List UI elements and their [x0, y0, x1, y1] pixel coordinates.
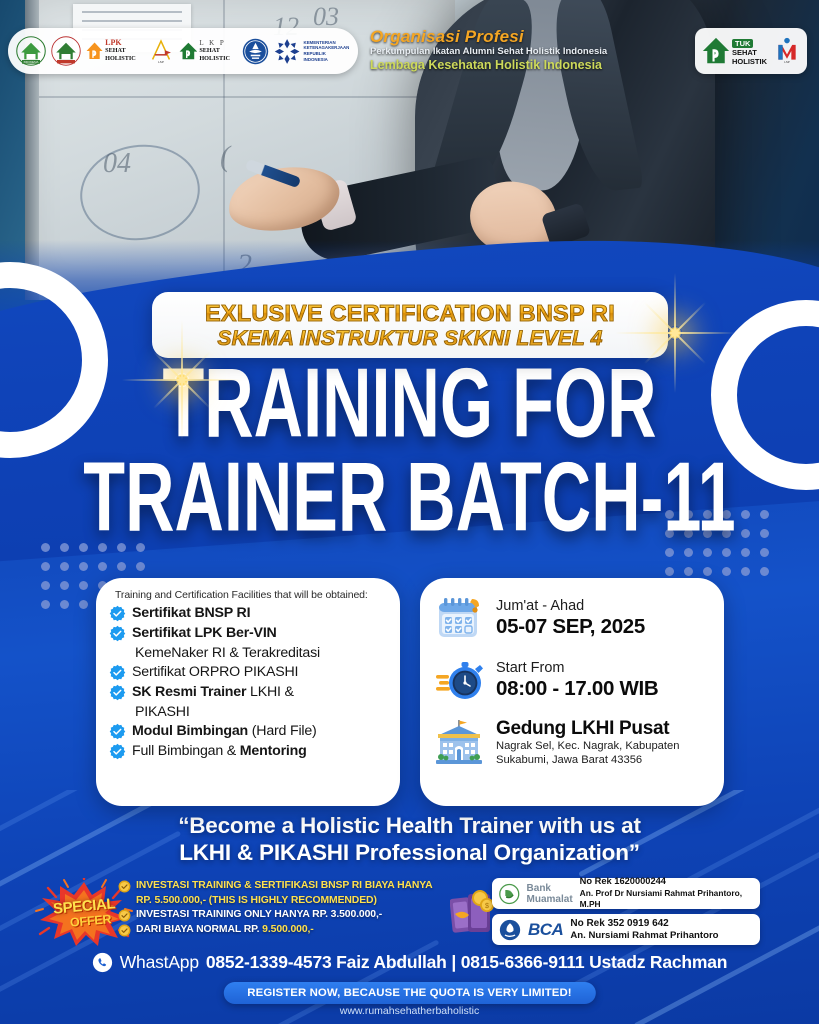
building-icon: [434, 716, 486, 768]
facility-text: Full Bimbingan & Mentoring: [132, 742, 307, 761]
logo-mapelkindo-icon: LSP: [774, 37, 800, 65]
logo-kemendikbud-icon: [242, 38, 269, 65]
facility-bold-tail: Mentoring: [240, 743, 307, 759]
check-coin-icon: [118, 909, 131, 922]
svg-text:LSP: LSP: [784, 60, 790, 64]
event-venue-row: Gedung LKHI Pusat Nagrak Sel, Kec. Nagra…: [434, 716, 712, 768]
certification-logos-bar: TUK SEHAT HOLISTIK LSP: [695, 28, 807, 74]
bank-account-holder: An. Prof Dr Nursiami Rahmat Prihantoro, …: [580, 888, 753, 911]
logo-lkp-house-icon: [179, 38, 198, 64]
partner-logos-bar: INDONESIA LPK SEHAT HOLISTIC: [8, 28, 358, 74]
offer-item-amount: 9.500.000,-: [262, 924, 313, 935]
banner-line-2: SKEMA INSTRUKTUR SKKNI LEVEL 4: [217, 326, 602, 351]
facility-item: Modul Bimbingan (Hard File): [109, 722, 386, 741]
verified-badge-icon: [109, 625, 126, 642]
banner-line-1: EXLUSIVE CERTIFICATION BNSP RI: [205, 300, 615, 326]
event-time-main: 08:00 - 17.00 WIB: [496, 677, 658, 700]
logo-tuk-house-icon: [702, 36, 730, 66]
bank-muamalat-logo: [499, 883, 520, 905]
bank-name: BCA: [528, 924, 563, 935]
offer-items-list: INVESTASI TRAINING & SERTIFIKASI BNSP RI…: [118, 879, 488, 938]
title-line-1: TRAINING FOR: [41, 356, 778, 452]
verified-badge-icon: [109, 684, 126, 701]
offer-item-prefix: DARI BIAYA NORMAL RP.: [136, 924, 262, 935]
logo-asosiasi-indonesia-icon: INDONESIA: [16, 36, 46, 66]
facility-text: Sertifikat LPK Ber-VIN: [132, 624, 277, 643]
quote-line-1: “Become a Holistic Health Trainer with u…: [0, 812, 819, 839]
logo-kemnaker: KEMENTERIAN KETENAGAKERJAAN REPUBLIK IND…: [274, 38, 350, 65]
facility-bold: Sertifikat BNSP RI: [132, 605, 250, 621]
bank-info: No Rek 352 0919 642 An. Nursiami Rahmat …: [570, 918, 718, 941]
whatsapp-numbers: 0852-1339-4573 Faiz Abdullah | 0815-6366…: [206, 952, 727, 973]
whatsapp-label: WhastApp: [120, 952, 199, 973]
facility-item: Sertifikat ORPRO PIKASHI: [109, 663, 386, 682]
bank-name-line-1: BCA: [528, 920, 563, 939]
event-time-sub: Start From: [496, 660, 658, 677]
whiteboard-sketch-circle: [74, 137, 206, 248]
facility-text: SK Resmi Trainer LKHI &: [132, 683, 294, 702]
svg-text:LSP: LSP: [158, 60, 164, 64]
organization-title-block: Organisasi Profesi Perkumpulan Ikatan Al…: [370, 28, 700, 73]
logo-tuk-sehat-holistik: TUK SEHAT HOLISTIK: [702, 36, 767, 66]
facility-normal: (Hard File): [248, 723, 317, 739]
logo-kemendikbud: [242, 38, 269, 65]
logo-lsp-mapelkindo: LSP: [774, 37, 800, 65]
facility-normal: Full Bimbingan &: [132, 743, 240, 759]
verified-badge-icon: [109, 743, 126, 760]
facility-text: Sertifikat BNSP RI: [132, 604, 250, 623]
calendar-icon: [434, 592, 486, 644]
bank-account-number: No Rek 1620000244: [580, 876, 753, 888]
tagline-quote: “Become a Holistic Health Trainer with u…: [0, 812, 819, 866]
whatsapp-icon: [92, 952, 113, 973]
verified-badge-icon: [109, 723, 126, 740]
bank-row: BCA No Rek 352 0919 642 An. Nursiami Rah…: [492, 914, 760, 945]
org-line-3: Lembaga Kesehatan Holistik Indonesia: [370, 58, 700, 73]
verified-badge-icon: [109, 605, 126, 622]
svg-text:$: $: [485, 903, 489, 910]
logo-perkumpulan-icon: [51, 36, 81, 66]
logo-lpk-house-icon: [86, 38, 103, 64]
facility-bold: SK Resmi Trainer: [132, 684, 246, 700]
logo-perkumpulan: [51, 36, 81, 66]
facilities-heading: Training and Certification Facilities th…: [115, 589, 386, 601]
logo-asosiasi-indonesia: INDONESIA: [16, 36, 46, 66]
offer-item-text: RP. 5.500.000,- (THIS IS HIGHLY RECOMMEN…: [136, 894, 377, 907]
event-time-row: Start From 08:00 - 17.00 WIB: [434, 654, 712, 706]
special-offer-section: SPECIAL OFFER INVESTASI TRAINING & SERTI…: [0, 878, 819, 952]
facility-bold: Modul Bimbingan: [132, 723, 248, 739]
event-date-row: Jum'at - Ahad 05-07 SEP, 2025: [434, 592, 712, 644]
website-footer[interactable]: www.rumahsehatherbaholistic: [0, 1005, 819, 1017]
org-line-2: Perkumpulan Ikatan Alumni Sehat Holistik…: [370, 46, 700, 58]
logo-lsp: LSP: [148, 38, 174, 64]
whiteboard-scribble-a: 04: [103, 148, 131, 180]
register-now-button[interactable]: REGISTER NOW, BECAUSE THE QUOTA IS VERY …: [223, 982, 595, 1004]
facility-normal: LKHI &: [246, 684, 294, 700]
bank-info: No Rek 1620000244 An. Prof Dr Nursiami R…: [580, 876, 753, 911]
verified-badge-icon: [109, 664, 126, 681]
bank-account-number: No Rek 352 0919 642: [570, 918, 718, 930]
facilities-card: Training and Certification Facilities th…: [96, 578, 400, 806]
quote-line-2: LKHI & PIKASHI Professional Organization…: [0, 839, 819, 866]
facility-continuation: KemeNaker RI & Terakreditasi: [135, 644, 386, 663]
bank-accounts-list: Bank Muamalat No Rek 1620000244 An. Prof…: [492, 878, 760, 950]
check-coin-icon: [118, 924, 131, 937]
facility-text: Sertifikat ORPRO PIKASHI: [132, 663, 298, 682]
facility-text: Modul Bimbingan (Hard File): [132, 722, 317, 741]
page-title: TRAINING FOR TRAINER BATCH-11: [0, 356, 819, 524]
facility-item: Sertifikat BNSP RI: [109, 604, 386, 623]
offer-item: RP. 5.500.000,- (THIS IS HIGHLY RECOMMEN…: [136, 894, 488, 907]
whiteboard-line-h: [39, 96, 455, 98]
poster-root: 04 ( 12 03 2: [0, 0, 819, 1024]
facility-item: Sertifikat LPK Ber-VIN: [109, 624, 386, 643]
facility-item: SK Resmi Trainer LKHI &: [109, 683, 386, 702]
bank-row: Bank Muamalat No Rek 1620000244 An. Prof…: [492, 878, 760, 909]
stopwatch-icon: [434, 654, 486, 706]
offer-item: INVESTASI TRAINING ONLY HANYA RP. 3.500.…: [118, 908, 488, 922]
bank-name-line-1: Bank: [527, 883, 573, 894]
whatsapp-contact-row[interactable]: WhastApp 0852-1339-4573 Faiz Abdullah | …: [0, 952, 819, 978]
org-line-1: Organisasi Profesi: [370, 28, 700, 46]
whiteboard-scribble-b: (: [220, 140, 230, 174]
facility-continuation: PIKASHI: [135, 703, 386, 722]
offer-item-text: DARI BIAYA NORMAL RP. 9.500.000,-: [136, 923, 314, 936]
logo-lpk-sehat-holistic: LPK SEHAT HOLISTIC: [86, 38, 143, 64]
offer-item: INVESTASI TRAINING & SERTIFIKASI BNSP RI…: [118, 879, 488, 893]
event-info-card: Jum'at - Ahad 05-07 SEP, 2025: [420, 578, 724, 806]
offer-item-text: INVESTASI TRAINING & SERTIFIKASI BNSP RI…: [136, 879, 433, 892]
special-offer-badge: SPECIAL OFFER: [38, 882, 130, 944]
title-line-2: TRAINER BATCH-11: [41, 450, 778, 546]
whatsapp-contact-inner[interactable]: WhastApp 0852-1339-4573 Faiz Abdullah | …: [92, 952, 728, 973]
certification-banner: EXLUSIVE CERTIFICATION BNSP RI SKEMA INS…: [152, 292, 668, 358]
bank-name: Bank Muamalat: [527, 883, 573, 905]
event-venue-addr-2: Sukabumi, Jawa Barat 43356: [496, 754, 679, 768]
facility-item: Full Bimbingan & Mentoring: [109, 742, 386, 761]
event-date-sub: Jum'at - Ahad: [496, 598, 645, 615]
bca-logo: [499, 919, 521, 941]
logo-lkp-sehat-holistic: L K P SEHAT HOLISTIC: [179, 38, 238, 64]
event-venue-main: Gedung LKHI Pusat: [496, 717, 679, 740]
bank-name-line-2: Muamalat: [527, 894, 573, 905]
svg-text:INDONESIA: INDONESIA: [24, 60, 39, 64]
check-coin-icon: [118, 880, 131, 893]
logo-kemnaker-icon: [274, 38, 300, 65]
offer-item-text: INVESTASI TRAINING ONLY HANYA RP. 3.500.…: [136, 908, 382, 921]
offer-item: DARI BIAYA NORMAL RP. 9.500.000,-: [118, 923, 488, 937]
offer-burst-line-2: OFFER: [70, 912, 112, 930]
facility-bold: Sertifikat LPK Ber-VIN: [132, 625, 277, 641]
money-wallet-icon: $: [450, 884, 494, 938]
logo-lsp-icon: LSP: [148, 38, 174, 64]
event-date-main: 05-07 SEP, 2025: [496, 615, 645, 638]
event-venue-addr-1: Nagrak Sel, Kec. Nagrak, Kabupaten: [496, 740, 679, 754]
bank-account-holder: An. Nursiami Rahmat Prihantoro: [570, 930, 718, 942]
